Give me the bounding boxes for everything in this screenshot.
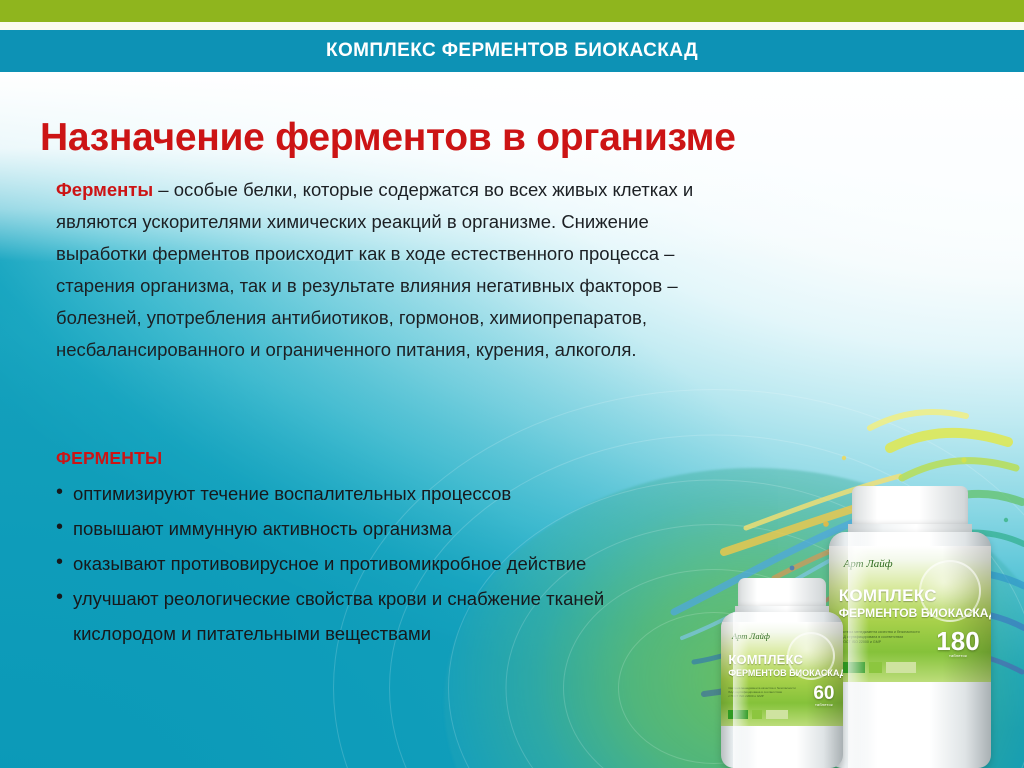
bottle-large-count-value: 180 (936, 626, 979, 656)
bottle-large-cap (852, 486, 968, 526)
bottle-small-count: 60 таблеток (813, 684, 834, 707)
bottle-small-cap (738, 578, 826, 608)
bottle-small-count-value: 60 (813, 683, 834, 704)
page-title: Назначение ферментов в организме (40, 116, 780, 160)
intro-paragraph-rest: – особые белки, которые содержатся во вс… (56, 179, 693, 360)
benefits-list: оптимизируют течение воспалительных проц… (56, 476, 696, 651)
list-item: повышают иммунную активность организма (56, 511, 696, 546)
slide-content: Назначение ферментов в организме Фермент… (0, 72, 1024, 768)
bottle-small-count-unit: таблеток (813, 703, 834, 707)
bottle-large-highlight (848, 532, 869, 768)
header-bar: КОМПЛЕКС ФЕРМЕНТОВ БИОКАСКАД (0, 30, 1024, 72)
intro-paragraph-lead: Ферменты (56, 179, 153, 200)
list-item: улучшают реологические свойства крови и … (56, 581, 696, 651)
benefits-heading: ФЕРМЕНТЫ (56, 448, 162, 469)
header-title: КОМПЛЕКС ФЕРМЕНТОВ БИОКАСКАД (326, 40, 698, 62)
top-cream-divider (0, 22, 1024, 30)
slide: КОМПЛЕКС ФЕРМЕНТОВ БИОКАСКАД Назначение … (0, 0, 1024, 768)
top-green-strip (0, 0, 1024, 22)
bottle-small-highlight (733, 612, 749, 768)
bottle-large-count: 180 таблеток (936, 628, 979, 658)
bottle-small-emboss (787, 632, 835, 680)
list-item: оптимизируют течение воспалительных проц… (56, 476, 696, 511)
bottle-small-body: Арт Лайф КОМПЛЕКС ФЕРМЕНТОВ БИОКАСКАД Си… (721, 612, 843, 768)
bottle-small: Арт Лайф КОМПЛЕКС ФЕРМЕНТОВ БИОКАСКАД Си… (716, 578, 848, 768)
list-item: оказывают противовирусное и противомикро… (56, 546, 696, 581)
bottle-large-emboss (919, 560, 981, 622)
bottle-large-body: Арт Лайф КОМПЛЕКС ФЕРМЕНТОВ БИОКАСКАД Си… (829, 532, 991, 768)
intro-paragraph: Ферменты – особые белки, которые содержа… (56, 174, 706, 366)
product-bottles: Арт Лайф КОМПЛЕКС ФЕРМЕНТОВ БИОКАСКАД Си… (716, 478, 1016, 768)
